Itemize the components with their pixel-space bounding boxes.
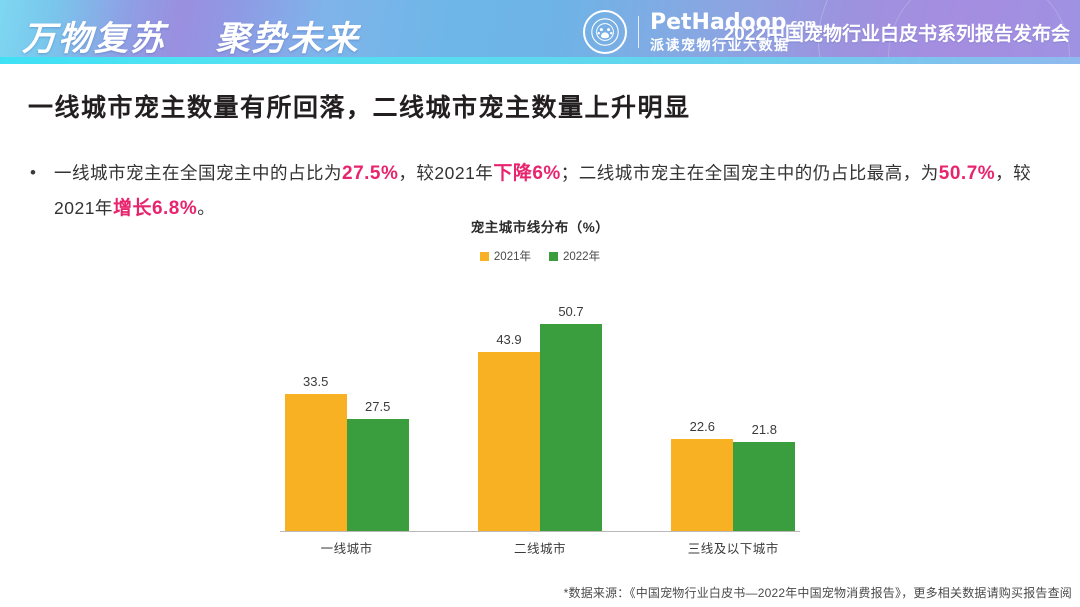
bar-2022-third-tier[interactable] bbox=[733, 442, 795, 532]
banner-bottom-strip bbox=[0, 57, 1080, 64]
highlight-second-tier-share: 50.7% bbox=[939, 163, 995, 184]
legend-label-2022: 2022年 bbox=[563, 248, 600, 264]
bar-2021-first-tier[interactable] bbox=[285, 394, 347, 532]
category-label-first-tier: 一线城市 bbox=[267, 538, 427, 557]
bar-chart: 宠主城市线分布（%） 2021年 2022年 33.5 27.5 bbox=[250, 216, 830, 566]
bar-2021-third-tier[interactable] bbox=[671, 439, 733, 532]
banner-slogan-left: 万物复苏 bbox=[22, 19, 166, 59]
bar-column: 27.5 bbox=[347, 280, 409, 532]
bar-column: 21.8 bbox=[733, 280, 795, 532]
bar-groups: 33.5 27.5 43.9 50.7 bbox=[250, 280, 830, 532]
bar-group-second-tier: 43.9 50.7 bbox=[478, 280, 602, 532]
legend-label-2021: 2021年 bbox=[494, 248, 531, 264]
legend-swatch-2021 bbox=[480, 252, 489, 261]
bar-value-label: 33.5 bbox=[303, 375, 328, 388]
chart-category-labels: 一线城市 二线城市 三线及以下城市 bbox=[250, 538, 830, 557]
chart-legend: 2021年 2022年 bbox=[250, 248, 830, 264]
event-title: 2022中国宠物行业白皮书系列报告发布会 bbox=[724, 19, 1070, 46]
chart-title: 宠主城市线分布（%） bbox=[250, 216, 830, 236]
bar-column: 33.5 bbox=[285, 280, 347, 532]
bar-value-label: 22.6 bbox=[690, 420, 715, 433]
bar-column: 43.9 bbox=[478, 280, 540, 532]
page-title: 一线城市宠主数量有所回落，二线城市宠主数量上升明显 bbox=[28, 88, 691, 124]
bar-2022-second-tier[interactable] bbox=[540, 324, 602, 532]
bar-value-label: 27.5 bbox=[365, 400, 390, 413]
highlight-first-tier-share: 27.5% bbox=[342, 163, 398, 184]
chart-baseline-axis bbox=[280, 531, 800, 532]
bullet-marker-icon: • bbox=[30, 156, 54, 190]
bar-2022-first-tier[interactable] bbox=[347, 419, 409, 532]
legend-item-2021[interactable]: 2021年 bbox=[480, 248, 531, 264]
banner-slogan: 万物复苏 聚势未来 bbox=[22, 11, 360, 60]
bar-group-first-tier: 33.5 27.5 bbox=[285, 280, 409, 532]
legend-swatch-2022 bbox=[549, 252, 558, 261]
chart-plot-area: 33.5 27.5 43.9 50.7 bbox=[250, 280, 830, 532]
banner-slogan-right: 聚势未来 bbox=[216, 19, 360, 59]
bar-group-third-tier: 22.6 21.8 bbox=[671, 280, 795, 532]
paragraph-segment-3: ；二线城市宠主在全国宠主中的仍占比最高，为 bbox=[561, 163, 939, 183]
highlight-second-tier-change: 增长6.8% bbox=[113, 198, 197, 219]
bar-column: 22.6 bbox=[671, 280, 733, 532]
category-label-third-tier: 三线及以下城市 bbox=[653, 538, 813, 557]
bar-value-label: 50.7 bbox=[558, 305, 583, 318]
bar-column: 50.7 bbox=[540, 280, 602, 532]
paragraph-segment-2: ，较2021年 bbox=[398, 163, 493, 183]
legend-item-2022[interactable]: 2022年 bbox=[549, 248, 600, 264]
header-banner: 万物复苏 聚势未来 PetHadoop.com 派读宠物行业大数据 2022中国… bbox=[0, 0, 1080, 64]
data-source-footnote: *数据来源：《中国宠物行业白皮书—2022年中国宠物消费报告》，更多相关数据请购… bbox=[564, 584, 1072, 601]
paragraph-segment-1: 一线城市宠主在全国宠主中的占比为 bbox=[54, 163, 342, 183]
brand-divider bbox=[638, 16, 639, 48]
category-label-second-tier: 二线城市 bbox=[460, 538, 620, 557]
bar-value-label: 43.9 bbox=[496, 333, 521, 346]
pet-paw-badge-icon bbox=[583, 10, 627, 54]
bar-2021-second-tier[interactable] bbox=[478, 352, 540, 532]
paragraph-segment-5: 。 bbox=[197, 198, 215, 218]
bar-value-label: 21.8 bbox=[752, 423, 777, 436]
highlight-first-tier-change: 下降6% bbox=[493, 163, 560, 184]
